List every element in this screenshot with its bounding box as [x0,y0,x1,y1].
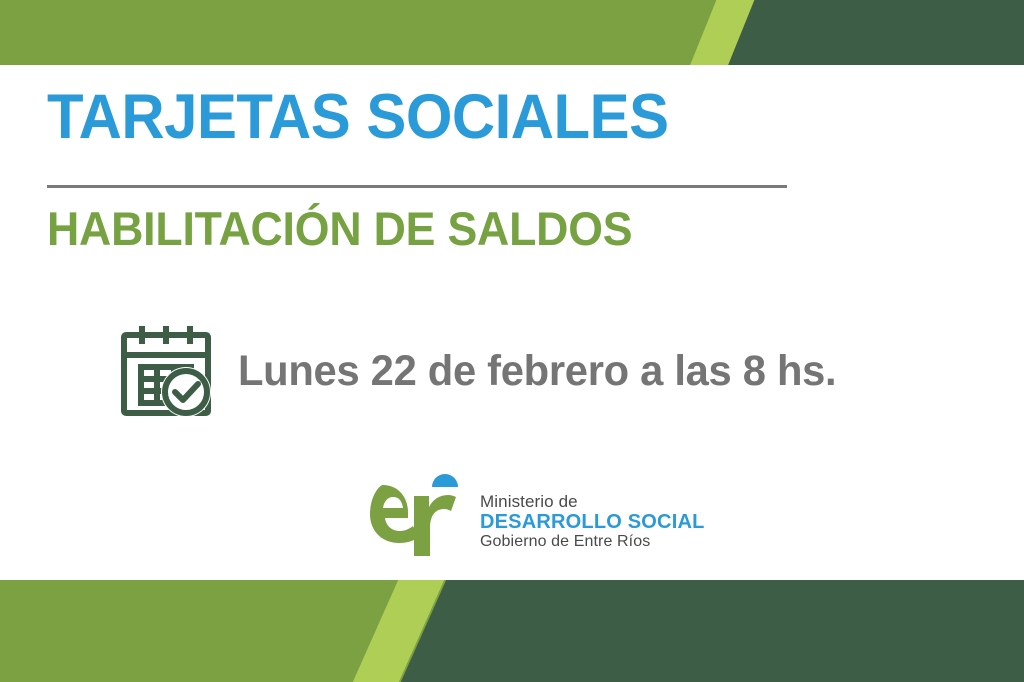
logo-wordmark: Ministerio de DESARROLLO SOCIAL Gobierno… [480,492,705,551]
calendar-check-icon [118,322,214,420]
band-dark-green-wedge [394,580,1024,682]
event-date-text: Lunes 22 de febrero a las 8 hs. [238,347,836,396]
logo-line-government: Gobierno de Entre Ríos [480,533,705,551]
poster-canvas: TARJETAS SOCIALES HABILITACIÓN DE SALDOS [0,0,1024,682]
ministry-logo: Ministerio de DESARROLLO SOCIAL Gobierno… [370,466,705,558]
page-title: TARJETAS SOCIALES [47,86,669,149]
logo-line-department: DESARROLLO SOCIAL [480,511,705,533]
title-divider [47,185,787,188]
event-date-row: Lunes 22 de febrero a las 8 hs. [118,322,855,420]
band-dark-green-wedge [723,0,1024,65]
bottom-decorative-band [0,580,1024,682]
top-decorative-band [0,0,1024,65]
page-subtitle: HABILITACIÓN DE SALDOS [47,205,632,252]
logo-line-ministry: Ministerio de [480,492,705,511]
er-monogram-icon [370,466,474,558]
